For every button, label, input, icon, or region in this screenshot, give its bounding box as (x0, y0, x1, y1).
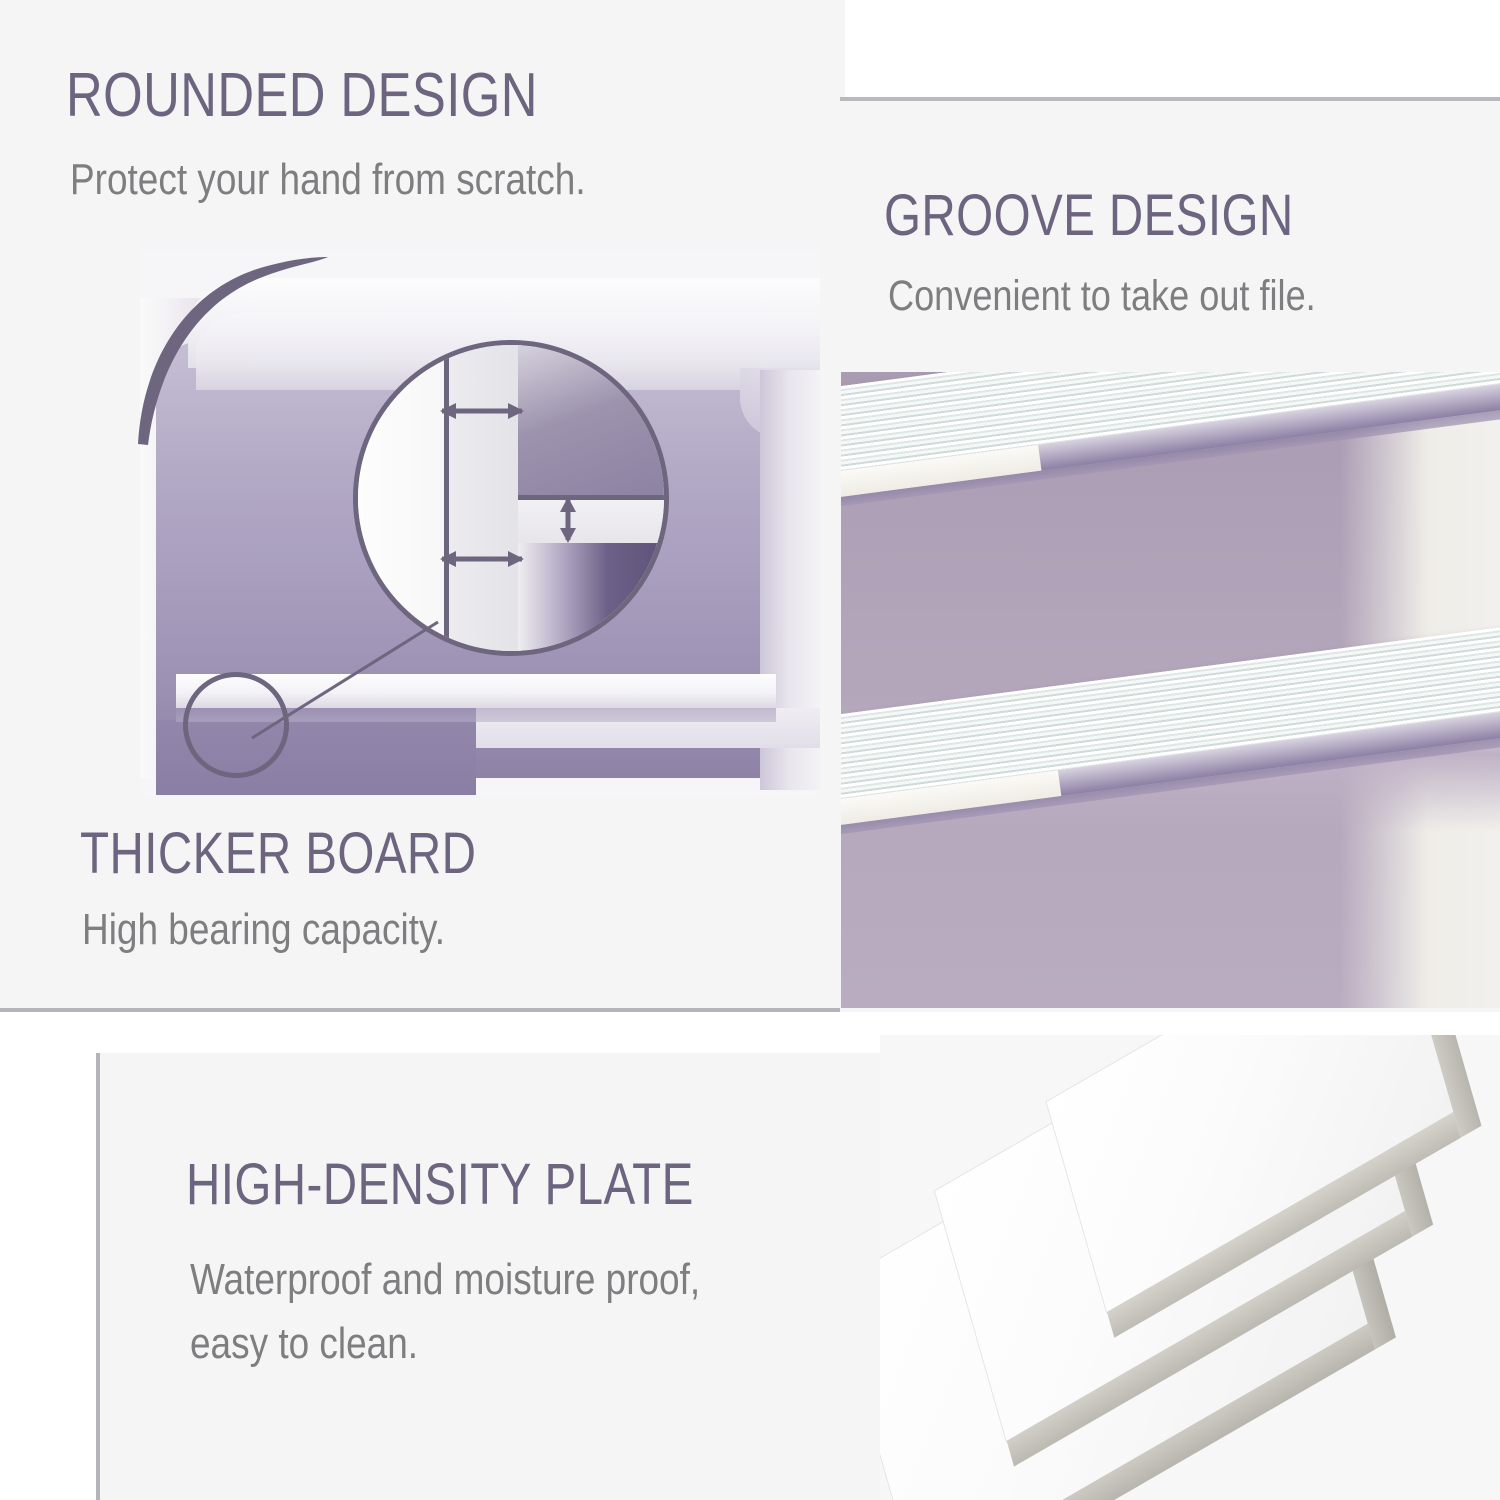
subtitle-high-density-plate-line1: Waterproof and moisture proof, (190, 1255, 700, 1305)
panel-rounded-design: ROUNDED DESIGN Protect your hand from sc… (0, 0, 845, 1012)
subtitle-thicker-board: High bearing capacity. (82, 905, 445, 955)
arrow-board-width-top-icon (440, 397, 524, 425)
subtitle-high-density-plate-line2: easy to clean. (190, 1319, 418, 1369)
magnifier-white-field (358, 345, 444, 651)
heading-rounded-design: ROUNDED DESIGN (66, 60, 538, 131)
shelf-row-upper (841, 372, 1500, 390)
rounded-corner-arc-icon (128, 248, 338, 448)
detail-marker-circle (183, 672, 289, 778)
heading-high-density-plate: HIGH-DENSITY PLATE (186, 1151, 694, 1218)
subtitle-rounded-design: Protect your hand from scratch. (70, 155, 586, 205)
heading-groove-design: GROOVE DESIGN (884, 182, 1294, 249)
photo-groove-shelves (841, 372, 1500, 1008)
subtitle-groove-design: Convenient to take out file. (888, 272, 1316, 321)
magnified-cross-section (353, 340, 669, 656)
magnifier-lower-panel (518, 543, 668, 651)
infographic-canvas: ROUNDED DESIGN Protect your hand from sc… (0, 0, 1500, 1500)
magnifier-board-core (444, 345, 528, 651)
photo-stacked-plates (880, 1035, 1500, 1500)
heading-thicker-board: THICKER BOARD (80, 820, 476, 887)
arrow-board-width-bottom-icon (440, 545, 524, 573)
arrow-shelf-thickness-icon (554, 497, 582, 543)
magnifier-upper-panel (518, 345, 668, 495)
